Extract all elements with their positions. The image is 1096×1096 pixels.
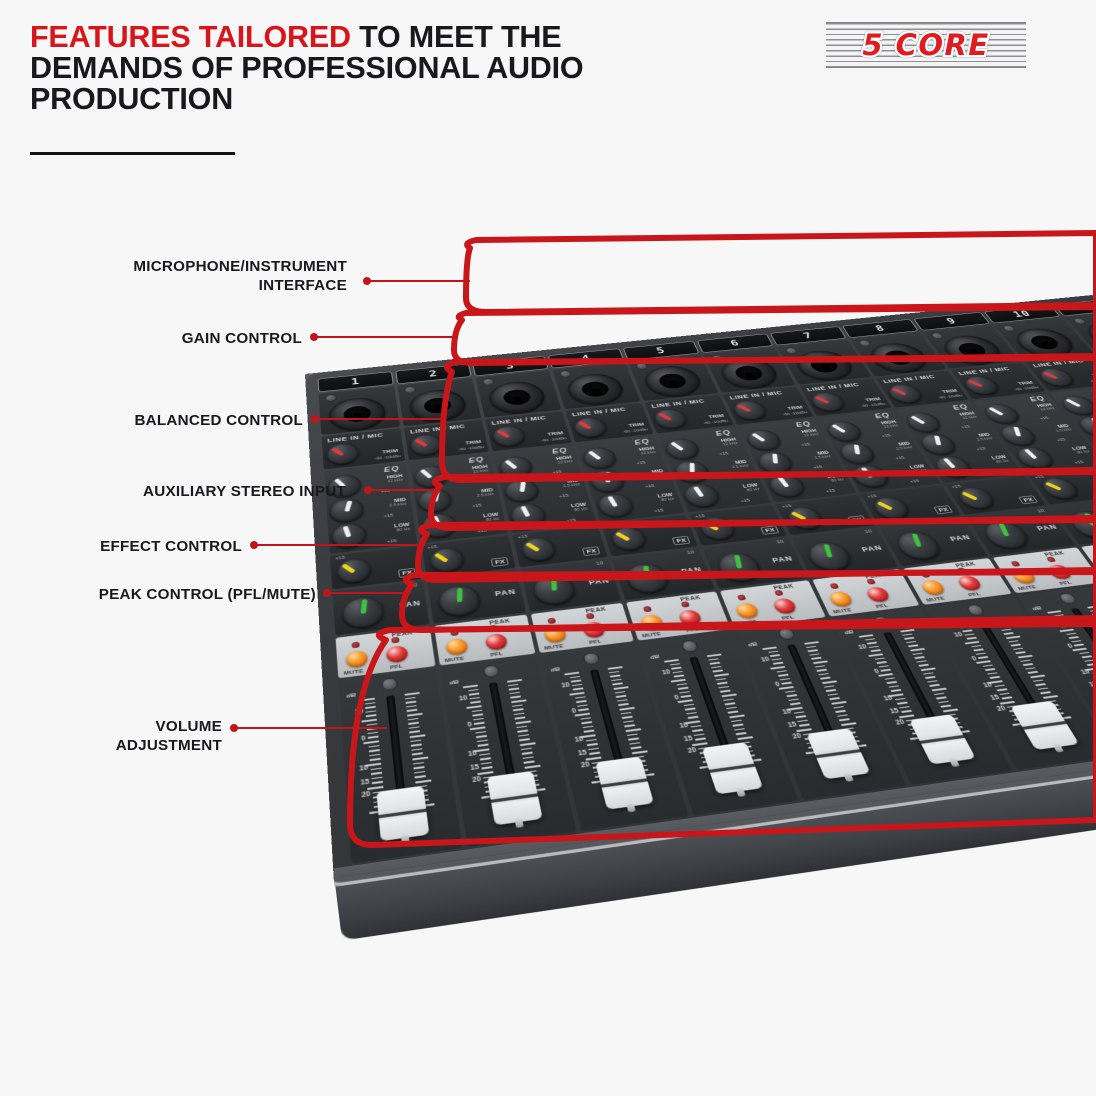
knob[interactable]: [996, 424, 1041, 447]
fader-tick: [638, 773, 654, 777]
mute-button[interactable]: [346, 650, 369, 669]
eq-band-range: +15: [992, 470, 1003, 475]
fader-tick: [796, 728, 812, 732]
fader-tick: [672, 671, 682, 673]
jack-ring: [1079, 319, 1096, 351]
fader-tick: [418, 799, 429, 802]
knob[interactable]: [714, 551, 764, 583]
fader-tick: [408, 722, 419, 725]
jack-screw: [858, 340, 873, 347]
fader-tick: [895, 698, 906, 701]
fader-cap[interactable]: [1010, 701, 1079, 750]
pfl-button[interactable]: [677, 609, 703, 627]
eq-band-freq: 2.5 kHz: [1055, 428, 1073, 433]
fader-tick: [679, 691, 690, 694]
fx-range-label: +15: [781, 504, 792, 509]
knob[interactable]: [1092, 437, 1096, 461]
pan-label: PAN: [771, 555, 794, 565]
knob[interactable]: [503, 478, 541, 503]
fader-tick: [626, 728, 642, 732]
knob[interactable]: [437, 584, 482, 618]
fader-tick: [908, 723, 919, 726]
fader-tick: [997, 621, 1007, 623]
eq-band-freq: 2.5 kHz: [476, 492, 494, 498]
trim-label: TRIM: [787, 406, 804, 411]
channel-strip: 9LINE IN / MICTRIM-60 -10dBuEQHIGH12 kHz…: [913, 312, 1096, 741]
fader-scale-number: 0: [361, 735, 366, 742]
fader-slot: [883, 632, 944, 735]
fader-cap[interactable]: [806, 728, 870, 779]
fader-scale-number: 20: [361, 791, 370, 799]
fader-tick: [1092, 613, 1096, 615]
combo-input-jack[interactable]: [994, 318, 1094, 361]
knob[interactable]: [744, 428, 784, 451]
knob[interactable]: [663, 437, 702, 460]
knob[interactable]: [1057, 394, 1096, 416]
fader-tick: [762, 647, 777, 650]
eq-band-high: HIGH12 kHz: [387, 474, 404, 484]
fader-tick: [1035, 683, 1046, 686]
fader-tick: [875, 657, 885, 659]
fader-screw: [582, 652, 601, 666]
eq-band-name: HIGH: [556, 455, 573, 461]
knob[interactable]: [609, 526, 648, 552]
knob[interactable]: [870, 496, 913, 521]
mute-button[interactable]: [827, 591, 854, 608]
band-aux-stereo-input: [431, 472, 1096, 528]
pan-label: PAN: [860, 544, 883, 553]
fader-tick: [797, 720, 808, 723]
knob[interactable]: [416, 488, 453, 514]
knob[interactable]: [784, 505, 826, 530]
fader-tick: [615, 691, 626, 694]
fader-tick: [470, 697, 481, 700]
knob[interactable]: [1037, 476, 1082, 500]
combo-input-jack[interactable]: [475, 370, 561, 418]
fader-tick: [621, 712, 632, 715]
fader-tick: [701, 756, 712, 759]
fader-tick: [366, 714, 377, 717]
knob[interactable]: [980, 403, 1023, 425]
knob[interactable]: [960, 375, 1002, 396]
combo-input-jack[interactable]: [1065, 311, 1096, 353]
fader-tick: [407, 709, 418, 712]
eq-band-range: +15: [1073, 460, 1084, 465]
fader-tick: [479, 753, 490, 756]
gain-section: LINE IN / MICTRIM-60 -10dBu: [800, 378, 892, 416]
fader-tick: [469, 693, 479, 696]
knob[interactable]: [429, 546, 466, 573]
fader-tick: [847, 736, 858, 739]
fader-unit-label: dB: [550, 667, 560, 673]
eq-band-mid: MID2.5 kHz: [729, 460, 749, 470]
knob[interactable]: [508, 502, 547, 528]
fader-slot: [1070, 608, 1096, 707]
fader-tick: [509, 688, 519, 691]
fader-tick: [514, 713, 525, 716]
fader-unit-label: dB: [650, 655, 660, 661]
eq-band-high: HIGH12 kHz: [959, 411, 978, 420]
knob[interactable]: [326, 442, 360, 465]
fader-tick: [372, 781, 383, 784]
fader-tick: [1079, 652, 1089, 654]
fader-cap[interactable]: [487, 771, 543, 825]
fader-tick: [717, 682, 727, 685]
fader-tick: [575, 696, 586, 699]
pfl-button[interactable]: [864, 586, 891, 603]
combo-input-jack[interactable]: [552, 362, 640, 409]
fader-scale-number: 20: [996, 706, 1008, 714]
fader-scale-left: 100101520: [845, 634, 925, 740]
gain-section: LINE IN / MICTRIM-60 -10dBu: [951, 363, 1045, 400]
knob[interactable]: [849, 464, 893, 489]
pfl-button[interactable]: [956, 575, 984, 592]
fader-tick: [725, 702, 736, 705]
eq-section: EQHIGH12 kHz+15MID2.5 kHz+15LOW80 Hz+15: [1050, 385, 1096, 464]
fx-section: +15FX: [1028, 466, 1096, 504]
fader-cap[interactable]: [376, 786, 429, 842]
fx-label: FX: [398, 568, 415, 578]
fader-tick: [910, 736, 926, 740]
knob[interactable]: [1074, 415, 1096, 438]
fader-tick: [1011, 644, 1021, 646]
eq-band-freq: 80 Hz: [659, 497, 675, 503]
headline-highlight: FEATURES TAILORED: [30, 20, 351, 54]
peak-mute-pfl-section: PEAKMUTEPFL: [1081, 537, 1096, 582]
pan-label: PAN: [948, 533, 972, 542]
fader-tick: [512, 704, 523, 707]
fader-scale-number: 20: [792, 733, 803, 741]
fader-tick: [1087, 605, 1096, 608]
pfl-button[interactable]: [772, 597, 798, 614]
combo-input-jack[interactable]: [628, 355, 718, 401]
fader-tick: [617, 699, 628, 702]
fader-tick: [610, 675, 620, 677]
line-mic-label: LINE IN / MIC: [327, 432, 383, 444]
combo-input-jack[interactable]: [703, 347, 795, 393]
eq-band-high: HIGH12 kHz: [1036, 403, 1056, 412]
pan-range-label: 10: [596, 561, 604, 566]
combo-input-jack[interactable]: [923, 325, 1021, 369]
fader-tick: [688, 716, 699, 719]
fader-tick: [628, 738, 639, 741]
eq-section: EQHIGH12 kHz+15MID2.5 kHz+15LOW80 Hz+15: [738, 418, 856, 502]
peak-label: PEAK: [955, 561, 977, 568]
combo-input-jack[interactable]: [851, 332, 947, 376]
knob[interactable]: [595, 492, 635, 518]
fx-range-label: +15: [518, 535, 528, 540]
pan-section: 10PAN: [1051, 497, 1096, 545]
pfl-button[interactable]: [582, 621, 607, 639]
fader-tick: [1087, 663, 1096, 665]
fader-tick: [593, 766, 604, 769]
peak-label: PEAK: [680, 595, 702, 603]
fader-tick: [609, 671, 619, 673]
eq-band-freq: 12 kHz: [722, 441, 739, 446]
eq-section: EQHIGH12 kHz+15MID2.5 kHz+15LOW80 Hz+15: [818, 410, 941, 493]
fader-scale-right: [608, 664, 670, 775]
channel-number: 3: [472, 356, 548, 376]
mute-button[interactable]: [734, 602, 760, 619]
knob[interactable]: [754, 450, 796, 474]
eq-band-name: MID: [1052, 424, 1071, 430]
knob[interactable]: [531, 573, 578, 606]
fader-tick: [569, 692, 584, 696]
knob[interactable]: [885, 383, 926, 404]
knob[interactable]: [916, 432, 960, 455]
eq-band-freq: 12 kHz: [473, 469, 489, 474]
fader-unit-label: dB: [449, 680, 459, 686]
fader-screw: [680, 639, 699, 653]
eq-band-freq: 2.5 kHz: [731, 464, 749, 469]
mute-button[interactable]: [1010, 568, 1038, 584]
gain-section: LINE IN / MICTRIM-60 -10dBu: [723, 387, 814, 425]
peak-label: PEAK: [1043, 551, 1066, 558]
knob[interactable]: [823, 420, 864, 443]
knob[interactable]: [1065, 509, 1096, 539]
fader-cap[interactable]: [909, 714, 976, 764]
eq-band-range: +15: [976, 447, 987, 451]
fader-scale-number: 10: [359, 764, 368, 772]
knob[interactable]: [572, 416, 609, 438]
fx-range-label: +15: [695, 514, 706, 519]
fader-tick: [1015, 651, 1025, 653]
band-effect-control: [418, 520, 1096, 580]
knob[interactable]: [409, 433, 444, 456]
fader-tick: [841, 722, 857, 726]
fx-label: FX: [672, 536, 690, 545]
fader-tick: [571, 680, 581, 683]
jack-hole: [733, 365, 766, 382]
pan-range-label: 10: [951, 519, 960, 524]
knob[interactable]: [342, 595, 386, 630]
fader-tick: [713, 670, 723, 672]
fader-tick: [880, 669, 890, 671]
fader-cap[interactable]: [702, 742, 764, 794]
fader-scale-number: 10: [561, 682, 571, 689]
line-mic-label: LINE IN / MIC: [650, 398, 705, 409]
knob[interactable]: [902, 411, 945, 433]
fader-tick: [369, 810, 385, 814]
fader-tick: [373, 795, 384, 798]
fader-tick: [1090, 609, 1096, 611]
fader-tick: [902, 633, 912, 635]
eq-band-range: +15: [636, 461, 646, 466]
fader-tick: [739, 741, 750, 744]
fader-tick: [1069, 636, 1079, 638]
fader-tick: [994, 617, 1008, 620]
trim-label: TRIM: [465, 440, 482, 446]
fader-tick: [586, 757, 602, 761]
eq-band-freq: 12 kHz: [803, 433, 820, 438]
fader-tick: [527, 779, 538, 782]
knob[interactable]: [836, 441, 879, 465]
mute-button[interactable]: [445, 638, 469, 656]
fader-tick: [485, 790, 496, 793]
fader-tick: [912, 732, 923, 735]
fader-tick: [910, 648, 925, 651]
fader-tick: [692, 742, 708, 746]
fader-scale-number: 10: [858, 644, 869, 651]
fader-scale-number: 15: [787, 721, 798, 729]
fader-tick: [589, 752, 600, 755]
fader-tick: [591, 780, 607, 784]
eq-band-name: LOW: [1071, 446, 1088, 452]
eq-band-range: +15: [472, 504, 482, 509]
knob[interactable]: [520, 536, 558, 562]
eq-band-mid: MID2.5 kHz: [893, 442, 914, 451]
knob[interactable]: [491, 425, 527, 448]
fader-tick: [921, 668, 936, 671]
peak-label: PEAK: [585, 607, 607, 615]
eq-band-name: LOW: [909, 464, 926, 470]
knob[interactable]: [652, 408, 690, 430]
jack-ring: [864, 341, 935, 375]
mute-button[interactable]: [543, 626, 567, 644]
fader-tick: [788, 698, 799, 701]
fader-tick: [577, 704, 588, 707]
fader-tick: [1072, 648, 1087, 651]
knob[interactable]: [730, 399, 769, 421]
mute-button[interactable]: [639, 614, 664, 632]
eq-band-range: +15: [477, 529, 487, 534]
fader-tick: [608, 666, 623, 669]
knob[interactable]: [497, 455, 534, 479]
knob[interactable]: [420, 512, 458, 539]
combo-input-jack[interactable]: [778, 340, 872, 385]
fader-tick: [1014, 718, 1025, 721]
eq-band-name: MID: [812, 451, 830, 457]
fader-tick: [1012, 722, 1028, 726]
jack-ring: [564, 372, 628, 408]
knob[interactable]: [979, 520, 1034, 551]
fader-tick: [670, 663, 680, 665]
fader-tick: [365, 710, 376, 713]
fx-range-label: +15: [1034, 475, 1045, 480]
eq-band-name: MID: [973, 433, 991, 439]
peak-mute-pfl-section: PEAKMUTEPFL: [903, 558, 1012, 605]
fx-section: +15FX: [689, 505, 787, 546]
fader-tick: [1004, 632, 1014, 634]
band-balanced-control: [442, 358, 1096, 480]
pfl-button[interactable]: [484, 633, 508, 651]
fader-tick: [637, 769, 648, 772]
fader-tick: [472, 709, 483, 712]
knob[interactable]: [1035, 367, 1078, 387]
fader-tick: [518, 734, 529, 737]
fader-tick: [806, 741, 817, 744]
knob[interactable]: [808, 391, 848, 412]
fader-tick: [484, 780, 495, 783]
fader-tick: [904, 637, 914, 639]
eq-band-low: LOW80 Hz: [909, 464, 928, 474]
pfl-button[interactable]: [386, 645, 409, 664]
pfl-button-label: PFL: [1059, 581, 1074, 587]
knob[interactable]: [697, 515, 737, 540]
fader-unit-label: dB: [748, 642, 759, 648]
pfl-button[interactable]: [1045, 564, 1074, 580]
fader-tick: [708, 658, 718, 660]
fader-tick: [369, 754, 380, 757]
fader-slot: [689, 657, 735, 764]
peak-led: [957, 567, 967, 573]
eq-band-name: LOW: [483, 512, 499, 518]
fader-tick: [508, 684, 518, 687]
mute-button[interactable]: [919, 579, 947, 596]
trim-range-label: -60 -10dBu: [541, 437, 567, 443]
knob[interactable]: [931, 455, 976, 479]
fader-tick: [414, 771, 425, 774]
combo-input-jack[interactable]: [319, 386, 400, 435]
fader-slot: [786, 644, 839, 749]
knob[interactable]: [588, 469, 627, 494]
mute-button-label: MUTE: [833, 608, 853, 615]
line-mic-label: LINE IN / MIC: [1031, 358, 1085, 368]
fader-unit-label: dB: [1032, 606, 1043, 612]
knob[interactable]: [954, 486, 998, 510]
fader-tick: [954, 730, 970, 734]
knob[interactable]: [623, 562, 672, 595]
fader-tick: [781, 682, 792, 685]
fader-tick: [839, 719, 850, 722]
knob[interactable]: [413, 464, 449, 488]
eq-band-name: MID: [388, 498, 406, 504]
fader-tick: [1033, 679, 1044, 682]
eq-band-high: HIGH12 kHz: [801, 429, 820, 438]
fader-tick: [1028, 671, 1038, 674]
knob[interactable]: [580, 446, 618, 470]
fader-tick: [976, 652, 986, 654]
fader-tick: [962, 630, 972, 632]
fader-scale-right: [994, 615, 1085, 718]
peak-led: [391, 637, 399, 644]
channel-strip: 7LINE IN / MICTRIM-60 -10dBuEQHIGH12 kHz…: [770, 326, 1096, 770]
fader-tick: [910, 727, 921, 730]
eq-band-range: +15: [566, 519, 576, 524]
fader-tick: [914, 656, 924, 658]
fader-tick: [405, 697, 416, 700]
fader-tick: [871, 650, 881, 652]
fx-label: FX: [1018, 495, 1038, 504]
fader-tick: [634, 760, 645, 763]
eq-band-low: LOW80 Hz: [826, 474, 845, 484]
eq-band-range: +15: [1039, 416, 1050, 420]
fader-cap[interactable]: [595, 756, 654, 809]
fader-tick: [470, 701, 481, 704]
fader-tick: [808, 649, 818, 651]
fader-scale-left: 100101520: [550, 672, 607, 784]
fader-tick: [983, 664, 993, 666]
eq-band-freq: 80 Hz: [994, 459, 1011, 464]
fader-tick: [573, 688, 583, 691]
knob[interactable]: [804, 540, 856, 572]
knob[interactable]: [892, 530, 945, 561]
peak-mute-pfl-section: PEAKMUTEPFL: [531, 603, 634, 653]
knob[interactable]: [681, 483, 722, 508]
fader-tick: [371, 772, 382, 775]
fader-tick: [695, 738, 706, 741]
knob[interactable]: [336, 557, 371, 584]
eq-band-freq: 2.5 kHz: [563, 483, 581, 489]
fader-scale-number: 20: [580, 762, 590, 770]
fader-tick: [851, 744, 867, 748]
fader-tick: [370, 758, 381, 761]
knob[interactable]: [765, 473, 808, 498]
fx-section: +15FX: [945, 476, 1046, 515]
knob[interactable]: [1012, 446, 1058, 470]
callout-label-peak-control: PEAK CONTROL (PFL/MUTE): [48, 586, 316, 605]
knob[interactable]: [672, 459, 712, 483]
